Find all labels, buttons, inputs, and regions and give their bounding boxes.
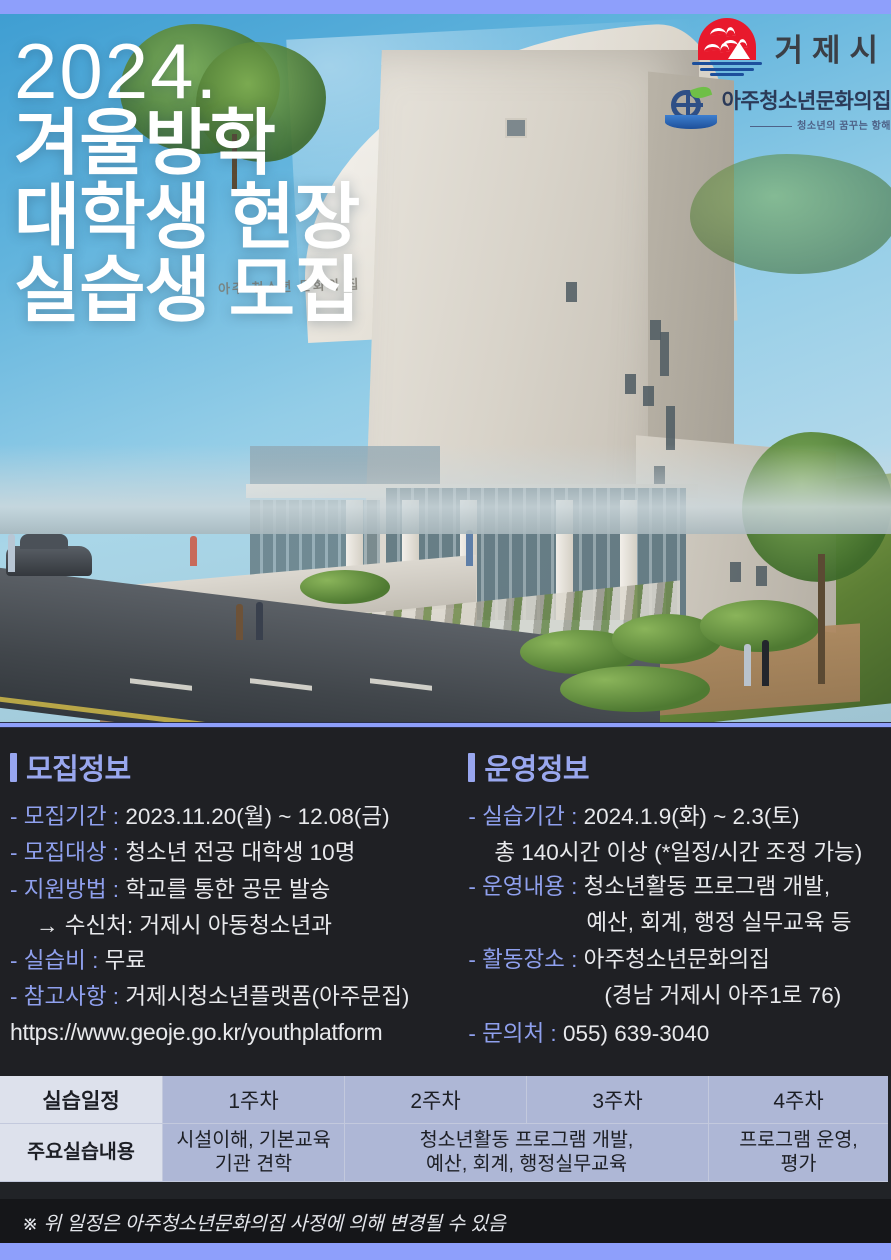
operation-period-value: 2024.1.9(화) ~ 2.3(토) [584,804,800,829]
geoje-city-logo: 거제시 [665,18,891,76]
section-accent-bar [468,753,475,782]
operation-content-label: - 운영내용 : [468,874,577,899]
recruit-method-value: 학교를 통한 공문 발송 [125,877,330,902]
recruit-note-item: - 참고사항 : 거제시청소년플랫폼(아주문집) [10,982,468,1011]
table-cell-week4-line1: 프로그램 운영, [739,1129,857,1153]
parked-car [6,546,92,576]
operation-period-label: - 실습기간 : [468,804,577,829]
recruit-section-header: 모집정보 [10,746,468,788]
table-cell-week4-line2: 평가 [739,1153,857,1177]
operation-contact-label: - 문의처 : [468,1021,556,1046]
operation-content-item: - 운영내용 : 청소년활동 프로그램 개발, [468,872,883,901]
operation-info-column: 운영정보 - 실습기간 : 2024.1.9(화) ~ 2.3(토) 총 140… [468,746,883,1055]
recruit-period-item: - 모집기간 : 2023.11.20(월) ~ 12.08(금) [10,802,468,831]
building-window [730,562,741,582]
footnote-bar: ※ 위 일정은 아주청소년문화의집 사정에 의해 변경될 수 있음 [0,1199,891,1243]
table-header-week3: 3주차 [527,1076,709,1124]
headline-line-1: 겨울방학 [14,108,359,181]
building-window [625,374,636,394]
operation-section-title: 운영정보 [484,746,589,788]
operation-content-value: 청소년활동 프로그램 개발, [584,874,830,899]
recruit-fee-value: 무료 [105,948,146,973]
recruit-period-label: - 모집기간 : [10,804,119,829]
recruit-method-item: - 지원방법 : 학교를 통한 공문 발송 [10,875,468,904]
table-cell-week23-line2: 예산, 회계, 행정실무교육 [420,1153,634,1177]
table-cell-week1-content: 시설이해, 기본교육 기관 견학 [163,1124,345,1182]
pedestrian [190,536,197,566]
recruit-fee-item: - 실습비 : 무료 [10,946,468,975]
operation-place-value: 아주청소년문화의집 [584,947,770,972]
building-window [643,386,654,406]
pedestrian [744,644,751,686]
tree-trunk [818,554,825,684]
table-header-week4: 4주차 [709,1076,888,1124]
hedge [300,570,390,604]
geoje-city-name: 거제시 [774,25,891,70]
schedule-table: 실습일정 1주차 2주차 3주차 4주차 주요실습내용 시설이해, 기본교육 기… [0,1076,891,1182]
tree-background [690,154,891,274]
table-row-weeks: 실습일정 1주차 2주차 3주차 4주차 [0,1076,891,1124]
building-window [505,118,527,138]
table-cell-week1-line2: 기관 견학 [176,1153,330,1177]
aju-center-tagline: 청소년의 꿈꾸는 항해 [722,117,891,132]
recruit-period-value: 2023.11.20(월) ~ 12.08(금) [125,804,389,829]
operation-place-label: - 활동장소 : [468,947,577,972]
recruit-target-label: - 모집대상 : [10,840,119,865]
recruit-method-label: - 지원방법 : [10,877,119,902]
operation-contact-value: 055) 639-3040 [563,1021,709,1046]
recruit-target-item: - 모집대상 : 청소년 전공 대학생 10명 [10,838,468,867]
recruit-method-recipient: → 수신처: 거제시 아동청소년과 [10,911,468,940]
recruit-note-value: 거제시청소년플랫폼(아주문집) [125,984,409,1009]
table-header-content: 주요실습내용 [0,1124,163,1182]
top-accent-bar [0,0,891,14]
headline-year: 2024. [14,34,359,108]
operation-content-extra: 예산, 회계, 행정 실무교육 등 [468,908,883,937]
table-cell-week23-line1: 청소년활동 프로그램 개발, [420,1129,634,1153]
table-header-week2: 2주차 [345,1076,527,1124]
hedge [700,600,820,652]
pedestrian [762,640,769,686]
headline-line-2: 대학생 현장 [14,182,359,255]
operation-period-item: - 실습기간 : 2024.1.9(화) ~ 2.3(토) [468,802,883,831]
pedestrian [256,602,263,640]
building-window [566,282,577,302]
hedge [560,666,710,712]
recruit-platform-url[interactable]: https://www.geoje.go.kr/youthplatform [10,1019,468,1046]
headline-block: 2024. 겨울방학 대학생 현장 실습생 모집 [14,34,359,328]
info-section: 모집정보 - 모집기간 : 2023.11.20(월) ~ 12.08(금) -… [0,728,891,1076]
table-cell-week4-content: 프로그램 운영, 평가 [709,1124,888,1182]
poster-root: 아주 청소년 문화의 집 2024. 겨울방학 [0,0,891,1260]
operation-period-hours: 총 140시간 이상 (*일정/시간 조정 가능) [468,838,883,867]
operation-place-item: - 활동장소 : 아주청소년문화의집 [468,945,883,974]
section-accent-bar [10,753,17,782]
pedestrian [8,534,15,572]
operation-place-address: (경남 거제시 아주1로 76) [468,981,883,1010]
recruit-info-column: 모집정보 - 모집기간 : 2023.11.20(월) ~ 12.08(금) -… [10,746,468,1055]
table-cell-week1-line1: 시설이해, 기본교육 [176,1129,330,1153]
aju-center-logo: 아주청소년문화의집 청소년의 꿈꾸는 항해 [665,85,891,132]
recruit-section-title: 모집정보 [26,746,131,788]
footnote-text: ※ 위 일정은 아주청소년문화의집 사정에 의해 변경될 수 있음 [22,1207,506,1236]
recruit-fee-label: - 실습비 : [10,948,98,973]
logo-group: 거제시 아주청소년문화의집 청소년의 꿈꾸는 항해 [665,18,891,132]
bottom-accent-bar [0,1243,891,1260]
building-window [660,332,669,376]
ship-wheel-wave-icon [665,87,717,131]
recruit-note-label: - 참고사항 : [10,984,119,1009]
building-window [756,566,767,586]
operation-contact-item: - 문의처 : 055) 639-3040 [468,1019,883,1048]
pedestrian [466,530,473,566]
recruit-target-value: 청소년 전공 대학생 10명 [125,840,355,865]
aju-center-name: 아주청소년문화의집 [722,85,891,115]
table-row-contents: 주요실습내용 시설이해, 기본교육 기관 견학 청소년활동 프로그램 개발, 예… [0,1124,891,1182]
pedestrian [236,604,243,640]
table-cell-week23-content: 청소년활동 프로그램 개발, 예산, 회계, 행정실무교육 [345,1124,709,1182]
operation-section-header: 운영정보 [468,746,883,788]
headline-line-3: 실습생 모집 [14,255,359,328]
table-header-schedule: 실습일정 [0,1076,163,1124]
atmospheric-haze [0,444,891,534]
table-header-week1: 1주차 [163,1076,345,1124]
geoje-sun-seagull-icon [688,18,766,76]
